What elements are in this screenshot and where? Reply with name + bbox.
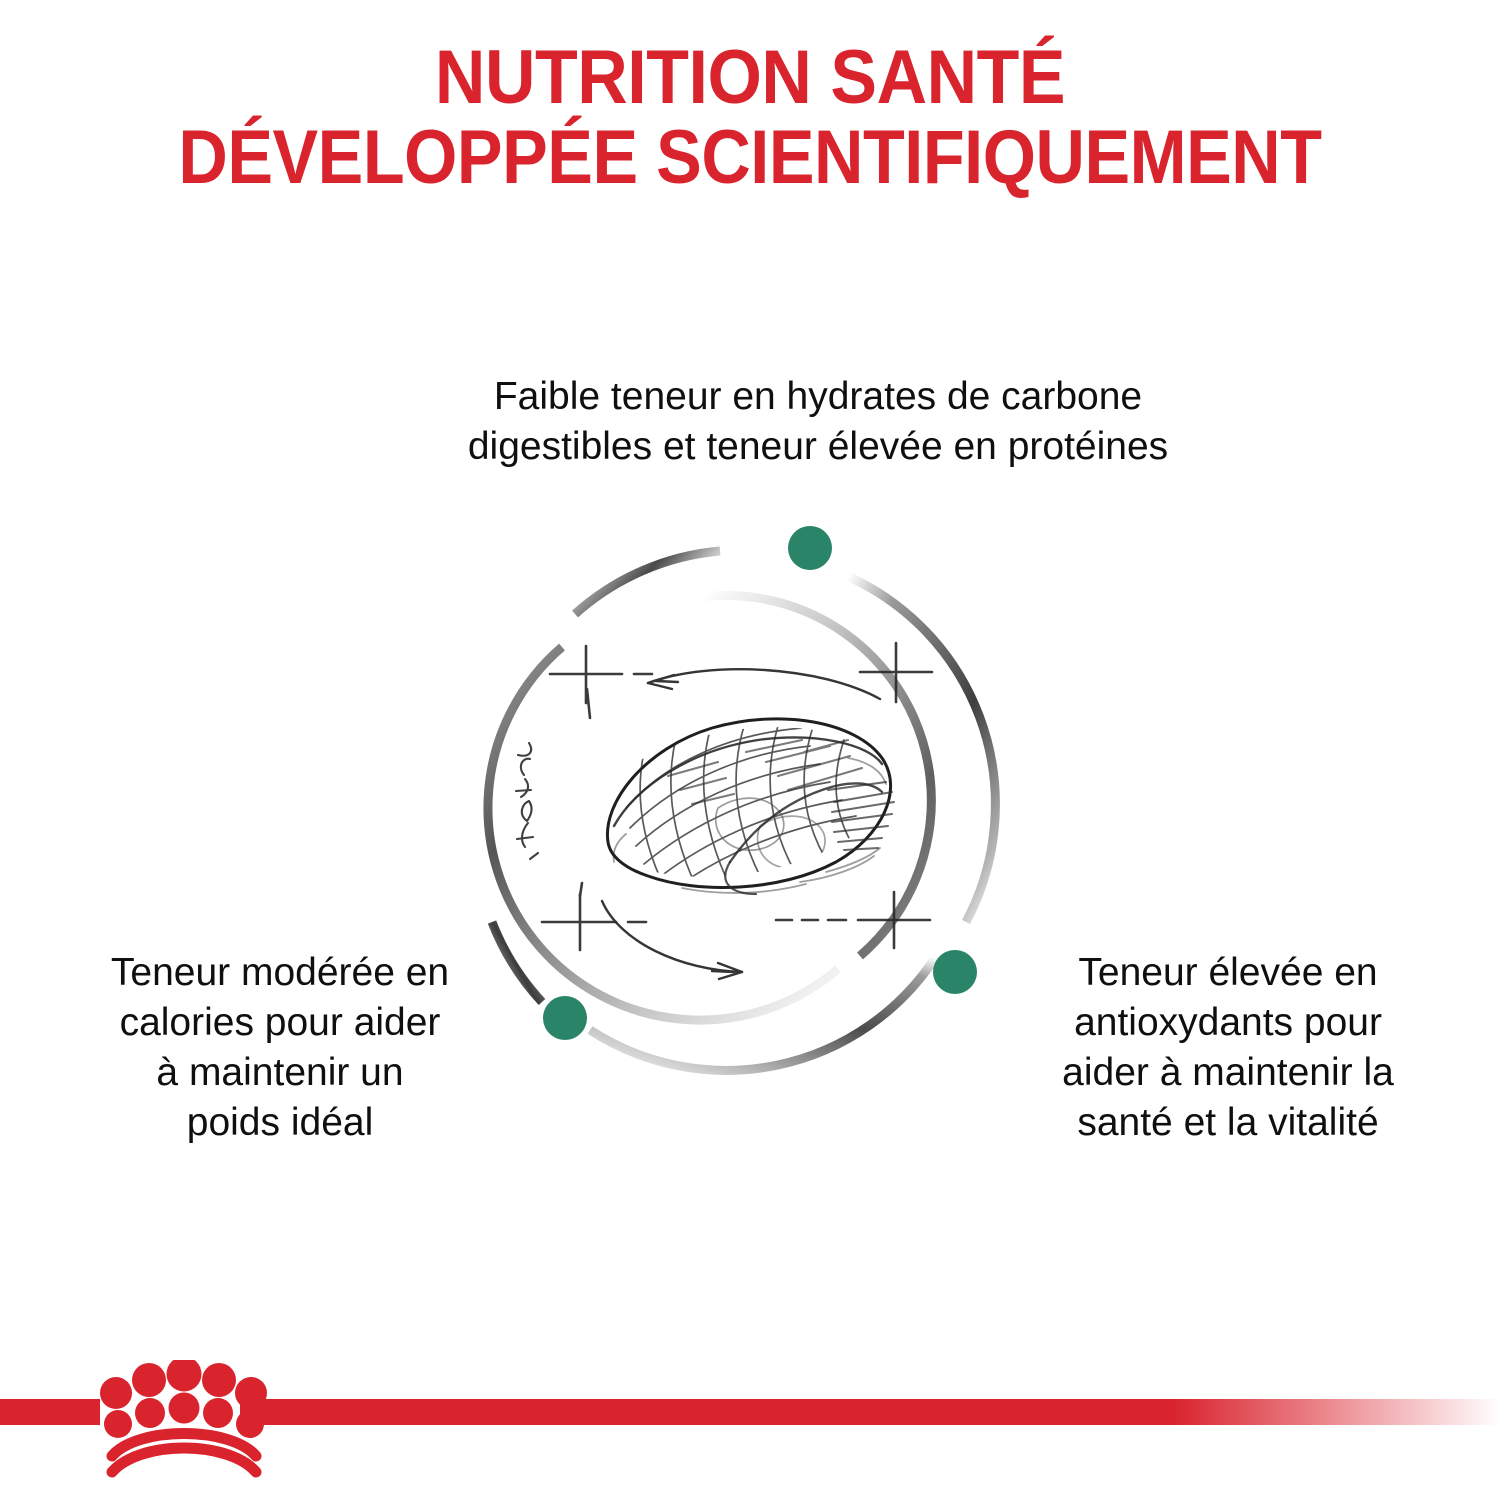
- royal-canin-crown-icon: [100, 1360, 267, 1472]
- page-title-line-2: DÉVELOPPÉE SCIENTIFIQUEMENT: [75, 118, 1425, 198]
- green-dot-top: [788, 526, 832, 570]
- green-dot-bottom-right: [933, 950, 977, 994]
- footer-rule-right: [240, 1399, 1500, 1425]
- feature-caption-top: Faible teneur en hydrates de carbone dig…: [378, 372, 1258, 472]
- feature-caption-right: Teneur élevée en antioxydants pour aider…: [1012, 948, 1444, 1148]
- footer-rule-left: [0, 1399, 100, 1425]
- page-title-line-1: NUTRITION SANTÉ: [60, 38, 1440, 118]
- page-title: NUTRITION SANTÉ DÉVELOPPÉE SCIENTIFIQUEM…: [0, 38, 1500, 198]
- broken-outer-ring-icon: [492, 551, 995, 1070]
- kibble-technical-diagram: [430, 490, 1050, 1110]
- kibble-wireframe-sketch-icon: [516, 643, 932, 979]
- green-dot-bottom-left: [543, 996, 587, 1040]
- broken-inner-ring-icon: [488, 596, 931, 1021]
- brand-footer: [0, 1360, 1500, 1500]
- poster-root: NUTRITION SANTÉ DÉVELOPPÉE SCIENTIFIQUEM…: [0, 0, 1500, 1500]
